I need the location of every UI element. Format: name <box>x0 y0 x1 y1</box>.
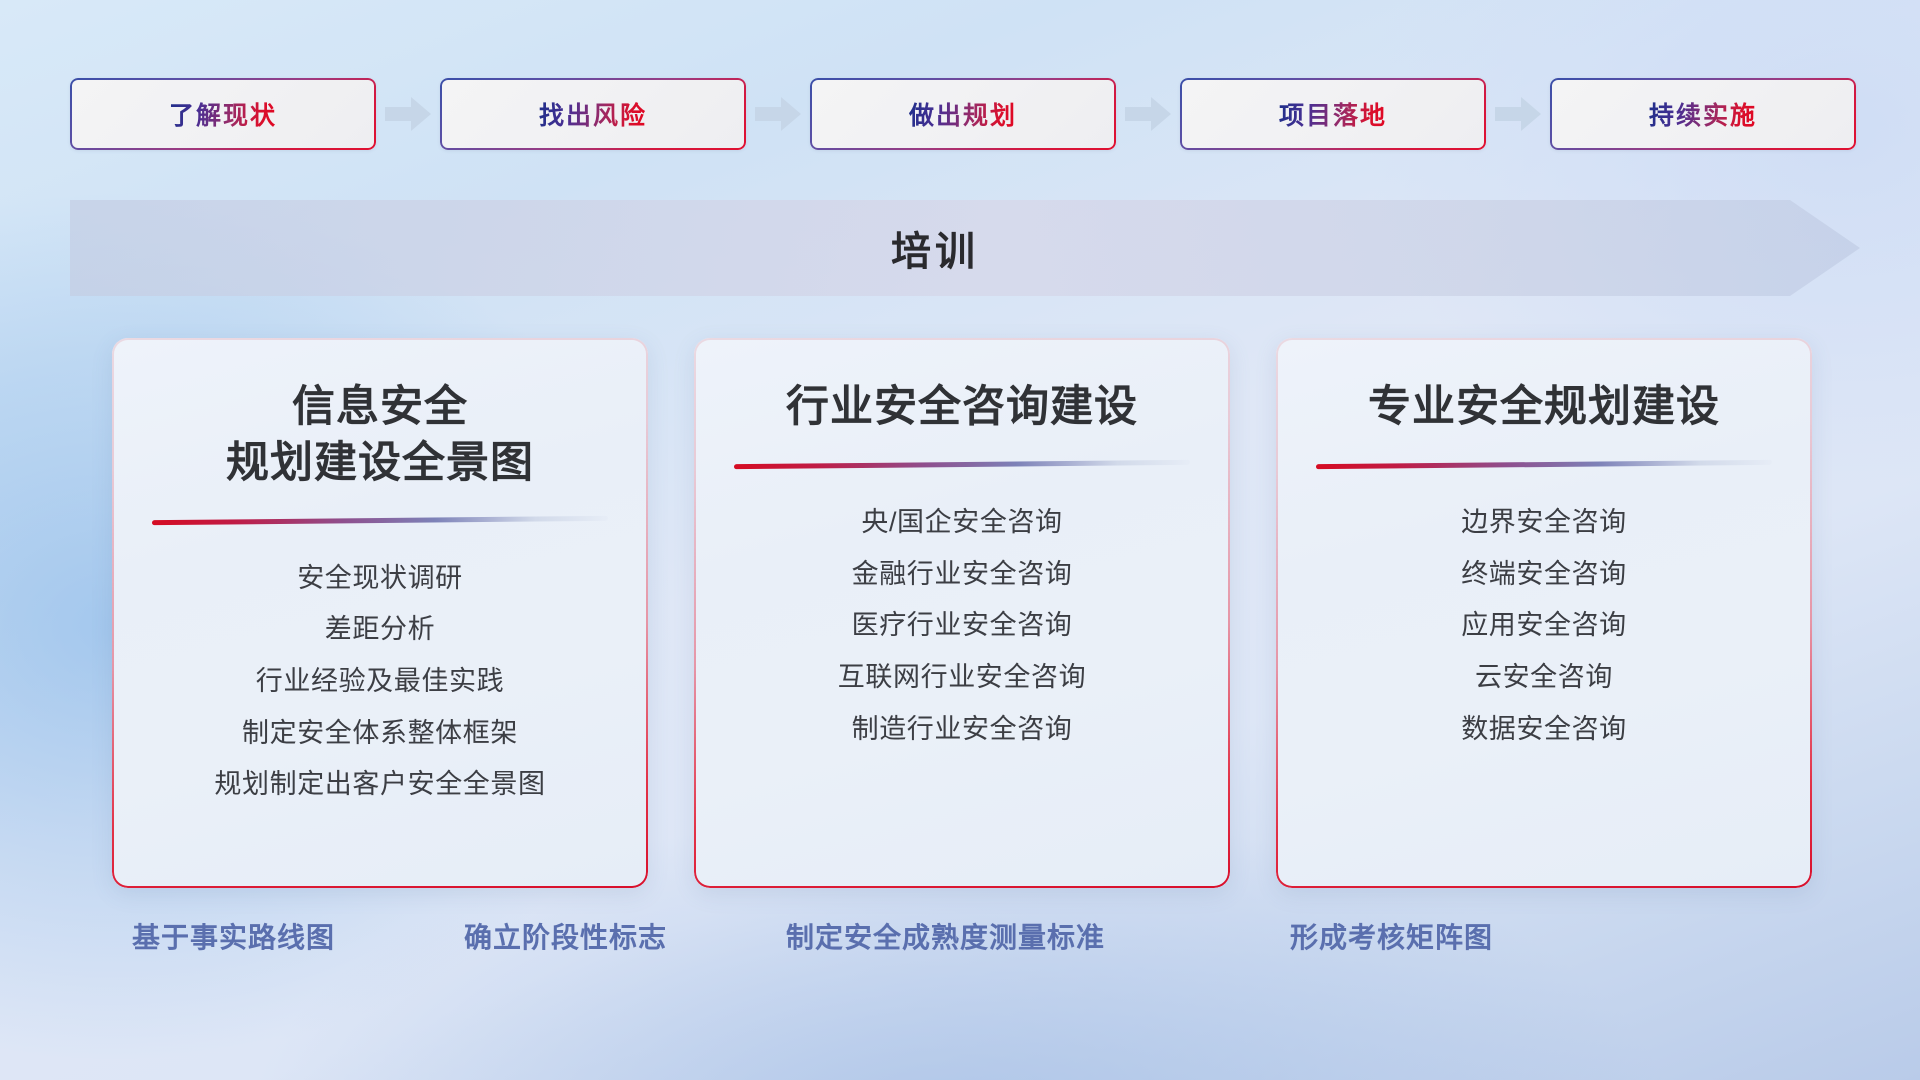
list-item: 医疗行业安全咨询 <box>852 604 1073 647</box>
card-item-list: 边界安全咨询 终端安全咨询 应用安全咨询 云安全咨询 数据安全咨询 <box>1461 501 1627 750</box>
list-item: 边界安全咨询 <box>1461 501 1627 544</box>
caption-maturity: 制定安全成熟度测量标准 <box>786 916 1105 956</box>
card-professional-security-planning[interactable]: 专业安全规划建设 边界安全咨询 终端安全咨询 应用安全咨询 云安全咨询 数据安全… <box>1276 338 1812 888</box>
process-step-row: 了解现状 找出风险 做出规划 项目落地 <box>70 78 1854 150</box>
arrow-right-icon <box>1116 78 1180 150</box>
card-divider <box>1316 460 1772 469</box>
banner-label: 培训 <box>70 200 1860 296</box>
step-box-3[interactable]: 做出规划 <box>810 78 1116 150</box>
step-label-2: 找出风险 <box>539 96 647 132</box>
card-title: 专业安全规划建设 <box>1368 380 1720 436</box>
step-box-2[interactable]: 找出风险 <box>440 78 746 150</box>
list-item: 央/国企安全咨询 <box>861 501 1062 544</box>
list-item: 金融行业安全咨询 <box>852 553 1073 596</box>
step-label-5: 持续实施 <box>1649 96 1757 132</box>
list-item: 互联网行业安全咨询 <box>838 656 1086 699</box>
card-title: 信息安全 规划建设全景图 <box>226 380 534 492</box>
card-item-list: 安全现状调研 差距分析 行业经验及最佳实践 制定安全体系整体框架 规划制定出客户… <box>214 557 545 806</box>
step-box-5[interactable]: 持续实施 <box>1550 78 1856 150</box>
training-banner: 培训 <box>70 200 1860 296</box>
arrow-right-icon <box>1486 78 1550 150</box>
list-item: 安全现状调研 <box>297 557 463 600</box>
caption-row: 基于事实路线图 确立阶段性标志 制定安全成熟度测量标准 形成考核矩阵图 <box>0 916 1920 972</box>
caption-matrix: 形成考核矩阵图 <box>1290 916 1493 956</box>
list-item: 行业经验及最佳实践 <box>256 660 504 703</box>
step-label-4: 项目落地 <box>1279 96 1387 132</box>
step-box-1[interactable]: 了解现状 <box>70 78 376 150</box>
card-title: 行业安全咨询建设 <box>786 380 1138 436</box>
slide-canvas: 了解现状 找出风险 做出规划 项目落地 <box>0 0 1920 1080</box>
list-item: 制定安全体系整体框架 <box>242 712 518 755</box>
list-item: 规划制定出客户安全全景图 <box>214 763 545 806</box>
arrow-right-icon <box>746 78 810 150</box>
card-industry-security-consulting[interactable]: 行业安全咨询建设 央/国企安全咨询 金融行业安全咨询 医疗行业安全咨询 互联网行… <box>694 338 1230 888</box>
card-divider <box>152 516 608 525</box>
step-box-4[interactable]: 项目落地 <box>1180 78 1486 150</box>
list-item: 应用安全咨询 <box>1461 604 1627 647</box>
caption-roadmap: 基于事实路线图 <box>132 916 335 956</box>
caption-milestone: 确立阶段性标志 <box>464 916 667 956</box>
list-item: 云安全咨询 <box>1475 656 1613 699</box>
card-item-list: 央/国企安全咨询 金融行业安全咨询 医疗行业安全咨询 互联网行业安全咨询 制造行… <box>838 501 1086 750</box>
step-label-1: 了解现状 <box>169 96 277 132</box>
card-information-security[interactable]: 信息安全 规划建设全景图 安全现状调研 差距分析 行业经验及最佳实践 制定安全体… <box>112 338 648 888</box>
list-item: 终端安全咨询 <box>1461 553 1627 596</box>
card-divider <box>734 460 1190 469</box>
list-item: 制造行业安全咨询 <box>852 708 1073 751</box>
card-row: 信息安全 规划建设全景图 安全现状调研 差距分析 行业经验及最佳实践 制定安全体… <box>112 338 1812 888</box>
list-item: 数据安全咨询 <box>1461 708 1627 751</box>
list-item: 差距分析 <box>325 608 435 651</box>
arrow-right-icon <box>376 78 440 150</box>
step-label-3: 做出规划 <box>909 96 1017 132</box>
